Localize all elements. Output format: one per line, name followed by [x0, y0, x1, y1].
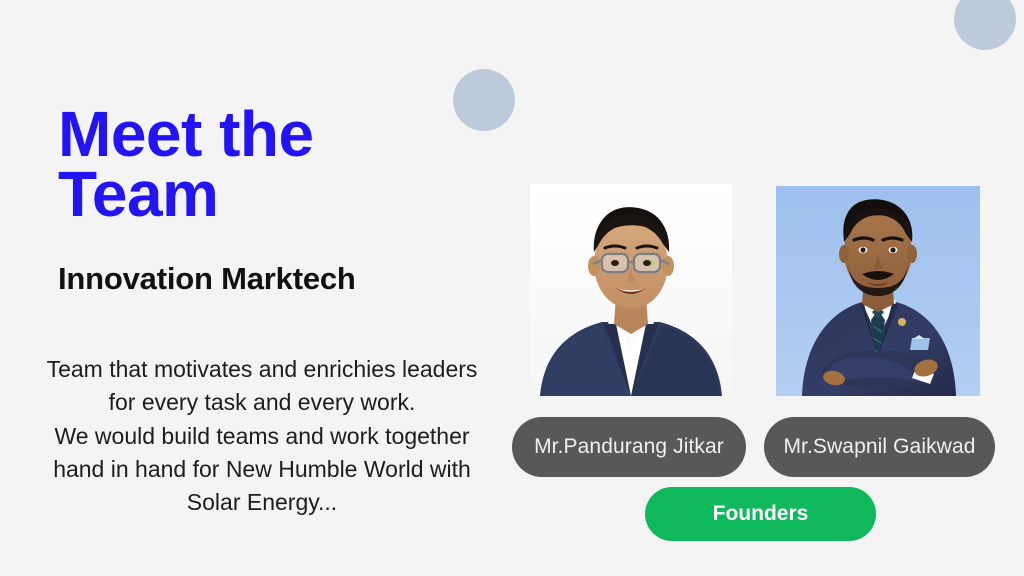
portrait-man-glasses-navy-blazer-icon [530, 184, 732, 396]
mission-statement: Team that motivates and enrichies leader… [32, 353, 492, 520]
company-subtitle: Innovation Marktech [58, 261, 356, 297]
member-photo-1 [530, 184, 732, 396]
member-name-pill-1: Mr.Pandurang Jitkar [512, 417, 746, 477]
portrait-man-beard-navy-suit-icon [776, 186, 980, 396]
slide-canvas: Meet the Team Innovation Marktech Team t… [0, 0, 1024, 576]
member-name-label-1: Mr.Pandurang Jitkar [534, 435, 724, 459]
role-badge-label: Founders [713, 502, 809, 526]
member-photo-2 [776, 186, 980, 396]
text-column: Meet the Team Innovation Marktech Team t… [0, 0, 510, 576]
member-name-label-2: Mr.Swapnil Gaikwad [783, 435, 975, 459]
role-badge: Founders [645, 487, 876, 541]
page-title: Meet the Team [58, 104, 478, 224]
decorative-circle-top-right [954, 0, 1016, 50]
member-name-pill-2: Mr.Swapnil Gaikwad [764, 417, 995, 477]
